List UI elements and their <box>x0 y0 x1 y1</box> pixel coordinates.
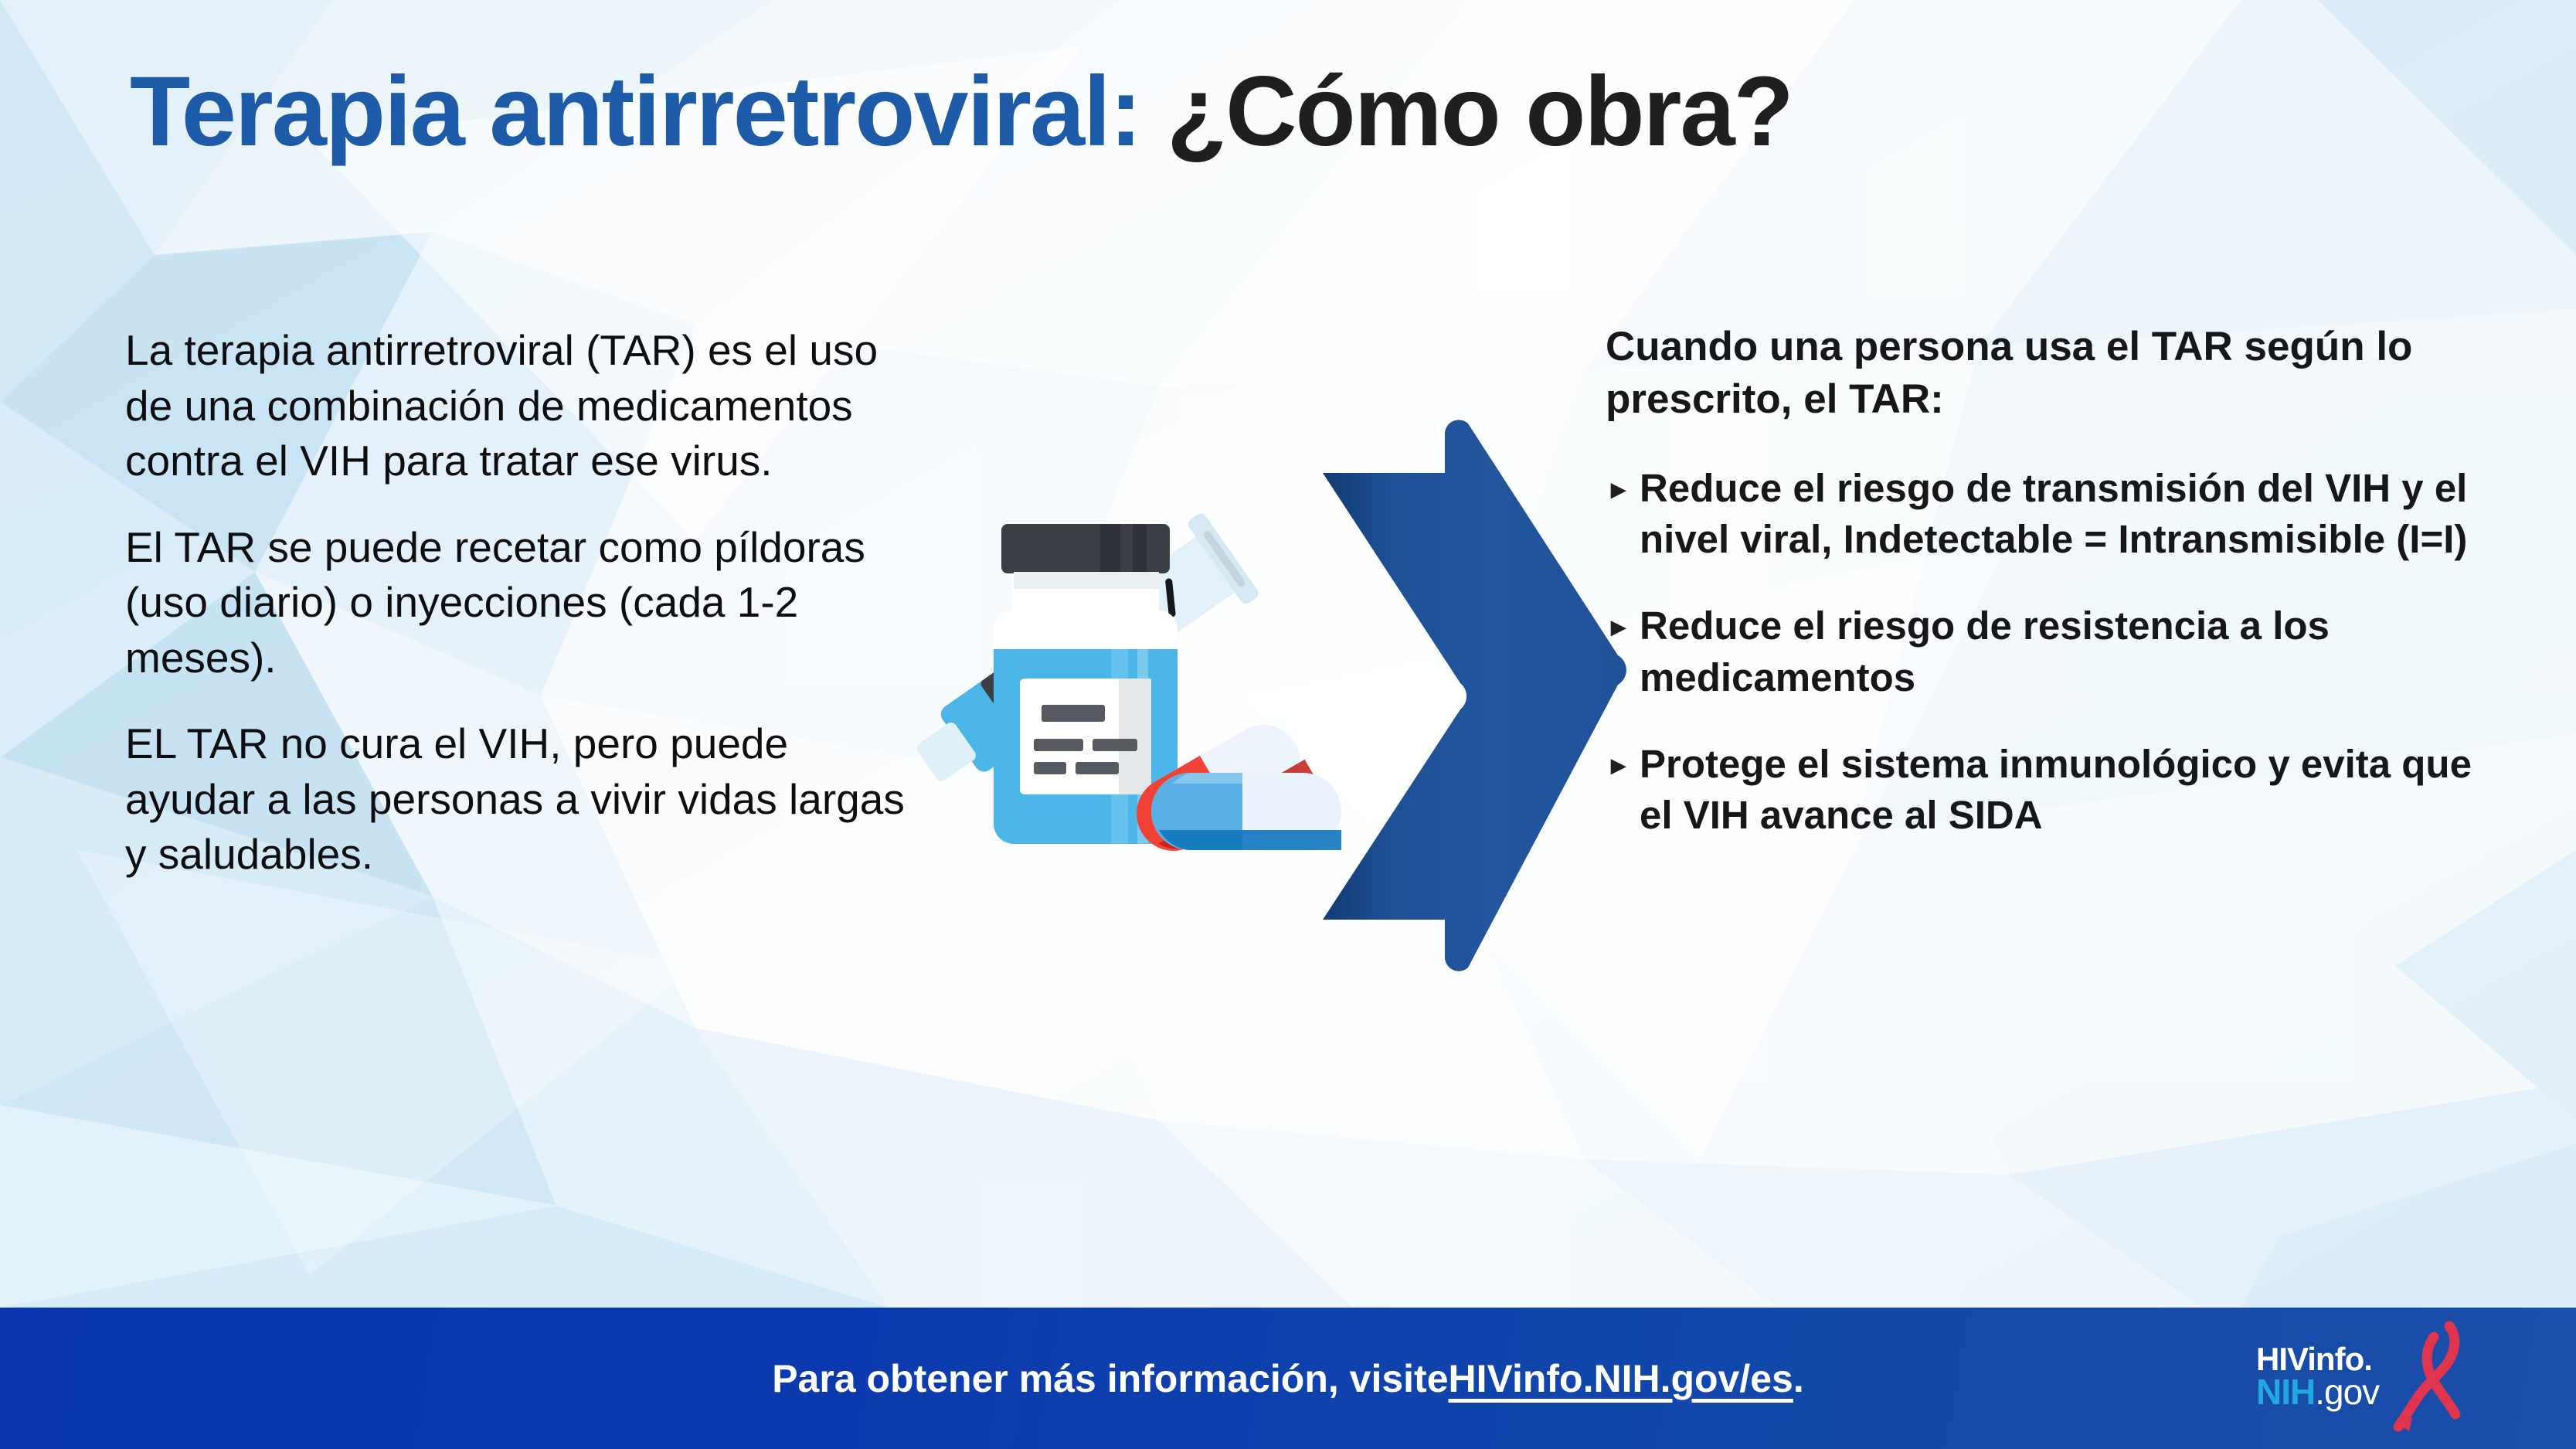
right-arrow-icon <box>1306 410 1630 981</box>
right-arrow <box>1306 410 1630 981</box>
logo-wordmark: HIVinfo. NIH.gov <box>2256 1343 2379 1410</box>
left-text-column: La terapia antirretroviral (TAR) es el u… <box>125 323 921 883</box>
bullet-triangle-icon: ► <box>1606 739 1640 779</box>
page-title: Terapia antirretroviral: ¿Cómo obra? <box>130 60 1793 164</box>
bullet-triangle-icon: ► <box>1606 600 1640 641</box>
bullet-text-1: Reduce el riesgo de transmisión del VIH … <box>1640 463 2486 566</box>
left-paragraph-3: EL TAR no cura el VIH, pero puede ayudar… <box>125 716 921 883</box>
infographic-poster: Terapia antirretroviral: ¿Cómo obra? La … <box>0 0 2576 1449</box>
hivinfo-url-link[interactable]: HIVinfo.NIH.gov/es <box>1449 1356 1793 1401</box>
title-blue-part: Terapia antirretroviral: <box>130 56 1140 167</box>
footer-text-after: . <box>1793 1356 1804 1401</box>
left-paragraph-1: La terapia antirretroviral (TAR) es el u… <box>125 323 921 489</box>
right-text-column: Cuando una persona usa el TAR según lo p… <box>1606 321 2486 841</box>
footer-message: Para obtener más información, visite HIV… <box>0 1308 2576 1449</box>
logo-gov-text: .gov <box>2315 1372 2379 1412</box>
right-column-heading: Cuando una persona usa el TAR según lo p… <box>1606 321 2486 426</box>
bullet-triangle-icon: ► <box>1606 463 1640 503</box>
left-paragraph-2: El TAR se puede recetar como píldoras (u… <box>125 520 921 686</box>
bullet-text-3: Protege el sistema inmunológico y evita … <box>1640 739 2486 842</box>
title-dark-part: ¿Cómo obra? <box>1167 56 1793 167</box>
logo-line-1: HIVinfo. <box>2256 1343 2379 1375</box>
bullet-text-2: Reduce el riesgo de resistencia a los me… <box>1640 600 2486 703</box>
hivinfo-logo[interactable]: HIVinfo. NIH.gov <box>2251 1325 2476 1433</box>
logo-nih-text: NIH <box>2256 1372 2315 1412</box>
medication-illustration <box>896 386 1375 866</box>
benefits-list: ► Reduce el riesgo de transmisión del VI… <box>1606 463 2486 842</box>
footer-bar: Para obtener más información, visite HIV… <box>0 1308 2576 1449</box>
vial-syringe-pills-graphic <box>896 386 1375 866</box>
list-item: ► Reduce el riesgo de transmisión del VI… <box>1606 463 2486 566</box>
list-item: ► Reduce el riesgo de resistencia a los … <box>1606 600 2486 703</box>
logo-line-2: NIH.gov <box>2256 1375 2379 1410</box>
aids-ribbon-icon <box>2383 1320 2476 1436</box>
footer-text-before: Para obtener más información, visite <box>772 1356 1448 1401</box>
list-item: ► Protege el sistema inmunológico y evit… <box>1606 739 2486 842</box>
